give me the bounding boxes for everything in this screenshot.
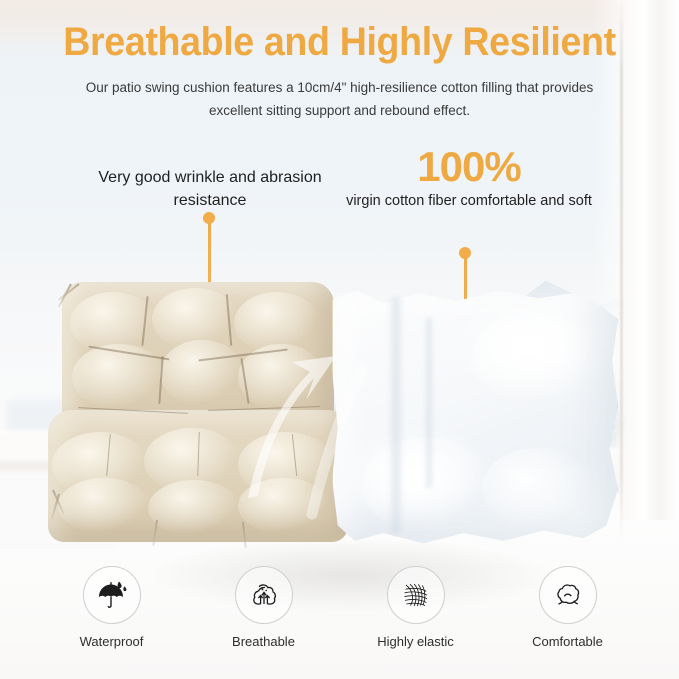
feature-highly-elastic: Highly elastic xyxy=(367,566,465,649)
cushion-seat xyxy=(48,410,348,542)
feature-label: Breathable xyxy=(232,634,295,649)
product-infographic: Breathable and Highly Resilient Our pati… xyxy=(0,0,679,679)
stat-100-percent: 100% xyxy=(330,143,608,191)
feature-label: Comfortable xyxy=(532,634,603,649)
product-filling-image xyxy=(332,288,618,546)
filling-fold xyxy=(424,318,434,488)
umbrella-rain-icon xyxy=(95,578,129,612)
feature-icon-circle xyxy=(235,566,293,624)
feature-breathable: Breathable xyxy=(215,566,313,649)
background-curtain-edge xyxy=(620,0,623,540)
feature-icon-circle xyxy=(83,566,141,624)
callout-right: 100% virgin cotton fiber comfortable and… xyxy=(330,143,608,212)
cotton-boll-arrows-icon xyxy=(247,578,281,612)
callout-right-text: virgin cotton fiber comfortable and soft xyxy=(330,191,608,212)
product-cushion-image xyxy=(48,282,348,550)
feature-icon-circle xyxy=(387,566,445,624)
callout-left-text: Very good wrinkle and abrasion resistanc… xyxy=(62,166,358,212)
filling-fold xyxy=(388,298,404,534)
feature-label: Highly elastic xyxy=(377,634,454,649)
feature-label: Waterproof xyxy=(80,634,144,649)
feature-list: Waterproof xyxy=(0,566,679,649)
feature-icon-circle xyxy=(539,566,597,624)
feature-waterproof: Waterproof xyxy=(63,566,161,649)
page-title: Breathable and Highly Resilient xyxy=(20,20,658,65)
filling-body xyxy=(332,288,618,546)
woven-fiber-mesh-icon xyxy=(399,578,433,612)
page-subtitle: Our patio swing cushion features a 10cm/… xyxy=(60,76,620,122)
feature-comfortable: Comfortable xyxy=(519,566,617,649)
cloud-pillow-icon xyxy=(551,578,585,612)
